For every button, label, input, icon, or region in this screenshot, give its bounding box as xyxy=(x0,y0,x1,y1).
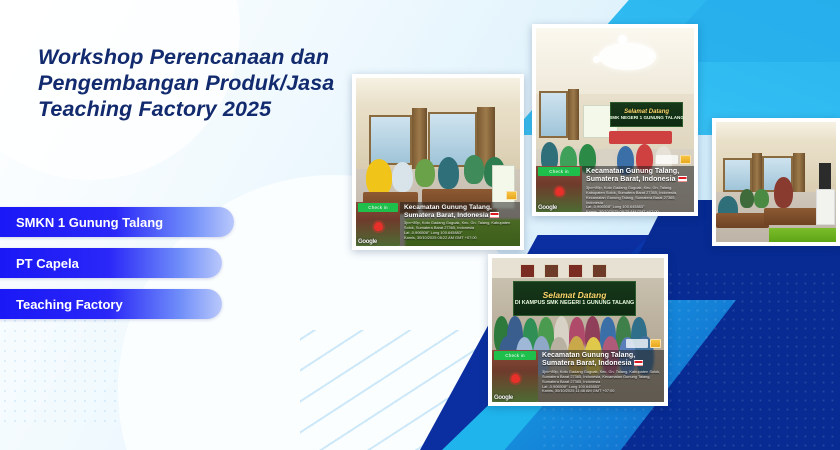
badge-teaching-factory[interactable]: Teaching Factory xyxy=(0,289,222,319)
gps-address: 3jvv+89p, Koto Gadang Guguak, Kec. Gn. T… xyxy=(542,370,661,385)
photo-app-badge-icon xyxy=(506,191,517,200)
map-thumbnail[interactable]: Check in Google xyxy=(356,202,400,246)
google-watermark: Google xyxy=(494,395,513,401)
title-line-2: Pengembangan Produk/Jasa xyxy=(38,70,358,96)
photo-app-label-badge xyxy=(626,339,648,348)
photo-group[interactable]: Selamat Datang DI KAMPUS SMK NEGERI 1 GU… xyxy=(488,254,668,406)
map-thumbnail[interactable]: Check in Google xyxy=(492,350,538,402)
map-pin-icon xyxy=(511,374,520,383)
check-in-button[interactable]: Check in xyxy=(358,203,398,212)
photo-app-label-badge xyxy=(656,155,678,164)
badge-smkn-1-gunung-talang[interactable]: SMKN 1 Gunung Talang xyxy=(0,207,234,237)
banner-subtitle: DI KAMPUS SMK NEGERI 1 GUNUNG TALANG xyxy=(515,300,634,306)
gps-title-text: Kecamatan Gunung Talang, Sumatera Barat,… xyxy=(404,204,492,219)
map-pin-icon xyxy=(374,222,383,231)
title-line-3: Teaching Factory 2025 xyxy=(38,96,358,122)
photo-gps-overlay: Check in Google Kecamatan Gunung Talang,… xyxy=(536,166,694,212)
gps-address: 3jvv+89p, Koto Gadang Guguak, Kec. Gn. T… xyxy=(586,186,691,206)
gps-location-title: Kecamatan Gunung Talang, Sumatera Barat,… xyxy=(586,168,691,185)
gps-title-text: Kecamatan Gunung Talang, Sumatera Barat,… xyxy=(542,352,635,367)
tag-list: SMKN 1 Gunung Talang PT Capela Teaching … xyxy=(0,207,234,319)
photo-classroom-participants[interactable]: Check in Google Kecamatan Gunung Talang,… xyxy=(352,74,524,250)
badge-label: SMKN 1 Gunung Talang xyxy=(16,215,163,230)
indonesia-flag-icon xyxy=(634,360,643,366)
indonesia-flag-icon xyxy=(490,212,499,218)
photo-gps-overlay: Check in Google Kecamatan Gunung Talang,… xyxy=(356,202,520,246)
welcome-banner: Selamat Datang SMK NEGERI 1 GUNUNG TALAN… xyxy=(610,102,683,128)
photo-scene xyxy=(716,122,836,242)
gps-location-title: Kecamatan Gunung Talang, Sumatera Barat,… xyxy=(404,204,517,220)
badge-pt-capela[interactable]: PT Capela xyxy=(0,248,222,278)
photo-presenter[interactable] xyxy=(712,118,840,246)
banner-title: Selamat Datang xyxy=(515,290,634,300)
google-watermark: Google xyxy=(358,239,377,245)
map-thumbnail[interactable]: Check in Google xyxy=(536,166,582,212)
check-in-button[interactable]: Check in xyxy=(538,167,580,176)
map-pin-icon xyxy=(555,187,564,196)
gps-location-title: Kecamatan Gunung Talang, Sumatera Barat,… xyxy=(542,352,661,369)
photo-app-badge-icon xyxy=(680,155,691,164)
photo-gps-overlay: Check in Google Kecamatan Gunung Talang,… xyxy=(492,350,664,402)
google-watermark: Google xyxy=(538,205,557,211)
title-line-1: Workshop Perencanaan dan xyxy=(38,44,358,70)
background-dots-left xyxy=(0,306,120,426)
check-in-button[interactable]: Check in xyxy=(494,351,536,360)
banner-subtitle: SMK NEGERI 1 GUNUNG TALANG xyxy=(609,115,684,120)
gps-timestamp: Kamis, 30/10/2025 08:22 AM GMT +07:00 xyxy=(404,236,517,241)
welcome-banner: Selamat Datang DI KAMPUS SMK NEGERI 1 GU… xyxy=(513,281,637,316)
gps-timestamp: Kamis, 30/10/2025 11:48 AM GMT +07:00 xyxy=(542,389,661,394)
poster-canvas: Workshop Perencanaan dan Pengembangan Pr… xyxy=(0,0,840,450)
badge-label: PT Capela xyxy=(16,256,79,271)
page-title: Workshop Perencanaan dan Pengembangan Pr… xyxy=(38,44,358,122)
gps-title-text: Kecamatan Gunung Talang, Sumatera Barat,… xyxy=(586,168,679,183)
photo-hall-opening[interactable]: Selamat Datang SMK NEGERI 1 GUNUNG TALAN… xyxy=(532,24,698,216)
gps-timestamp: Kamis, 30/10/2025 09:25 AM GMT +07:00 xyxy=(586,210,691,212)
indonesia-flag-icon xyxy=(678,176,687,182)
photo-app-badge-icon xyxy=(650,339,661,348)
badge-label: Teaching Factory xyxy=(16,297,123,312)
